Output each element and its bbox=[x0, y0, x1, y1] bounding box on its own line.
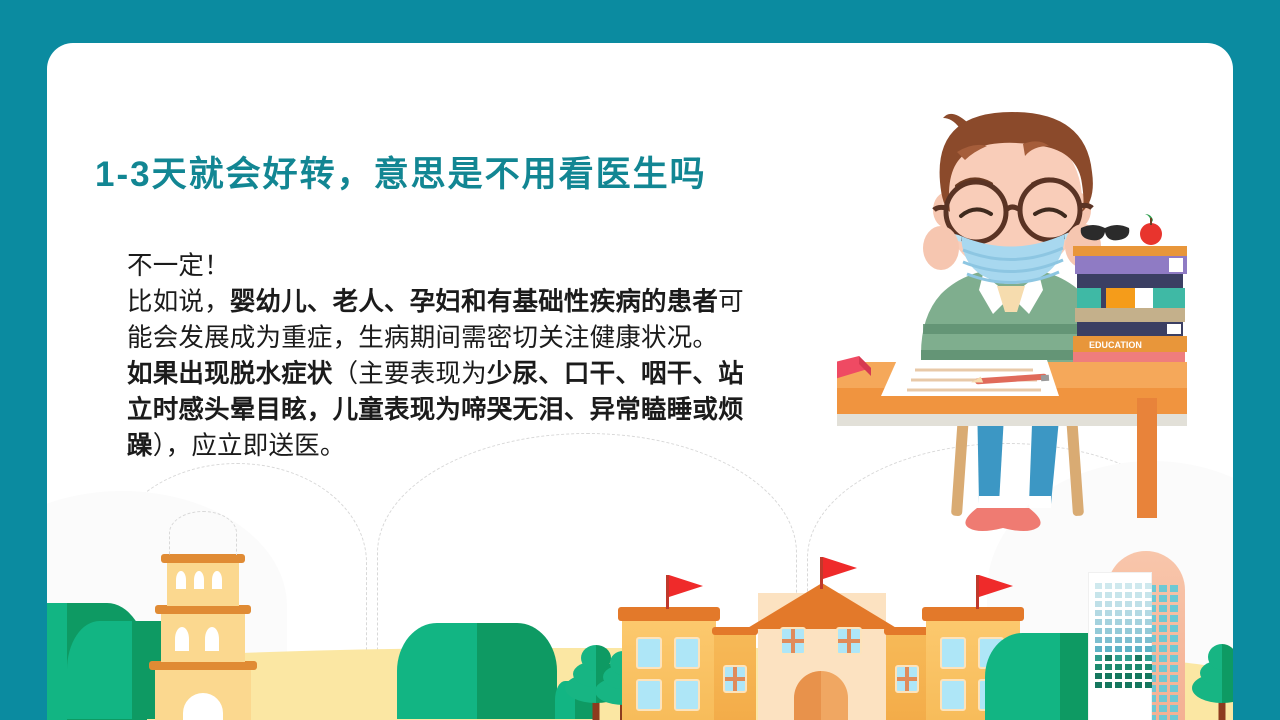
tower-band-top bbox=[161, 554, 245, 563]
school-window bbox=[940, 679, 966, 711]
desk-leg-right bbox=[1137, 398, 1157, 518]
reading-glasses-icon bbox=[1081, 225, 1130, 240]
school-building bbox=[622, 557, 1022, 720]
school-window-cross bbox=[780, 627, 806, 655]
body-line-2: 比如说，婴幼儿、老人、孕妇和有基础性疾病的患者可能会发展成为重症，生病期间需密切… bbox=[127, 284, 752, 356]
tower-window-top-3 bbox=[212, 571, 222, 589]
tower-mid bbox=[161, 612, 245, 662]
boy-hand-left bbox=[923, 226, 959, 270]
tower-band-mid bbox=[155, 605, 251, 614]
school-roof bbox=[746, 583, 898, 629]
school-window-cross bbox=[723, 665, 747, 693]
body-line-3: 如果出现脱水症状（主要表现为少尿、口干、咽干、站立时感头晕目眩，儿童表现为啼哭无… bbox=[127, 356, 752, 464]
tower-window-mid-1 bbox=[175, 627, 189, 651]
school-window-cross bbox=[836, 627, 862, 655]
tower-window-mid-2 bbox=[205, 627, 219, 651]
tower-window-top-2 bbox=[194, 571, 204, 589]
student-svg: EDUCATION bbox=[837, 98, 1187, 558]
school-window bbox=[674, 679, 700, 711]
school-flag-center bbox=[823, 557, 857, 579]
tower-dome-outline bbox=[169, 511, 237, 555]
student-illustration: EDUCATION bbox=[837, 98, 1187, 558]
slide-card: EDUCATION bbox=[47, 43, 1233, 720]
book-stack: EDUCATION bbox=[1073, 246, 1187, 362]
highrise-white bbox=[1089, 573, 1151, 720]
highrise-white-windows bbox=[1095, 583, 1152, 688]
school-window bbox=[674, 637, 700, 669]
school-wing-right-cap bbox=[922, 607, 1024, 621]
school-entrance-door bbox=[794, 671, 848, 720]
tower-window-top-1 bbox=[176, 571, 186, 589]
book-label-education: EDUCATION bbox=[1089, 340, 1142, 350]
body-copy: 不一定！ 比如说，婴幼儿、老人、孕妇和有基础性疾病的患者可能会发展成为重症，生病… bbox=[127, 248, 752, 464]
school-window-cross bbox=[895, 665, 919, 693]
school-window bbox=[940, 637, 966, 669]
school-flag-left bbox=[669, 575, 703, 597]
apple-icon bbox=[1140, 214, 1162, 245]
school-block-right-cap bbox=[884, 627, 930, 635]
page-title: 1-3天就会好转，意思是不用看医生吗 bbox=[95, 146, 707, 197]
bush-center bbox=[397, 623, 557, 719]
school-wing-left-cap bbox=[618, 607, 720, 621]
body-line-1: 不一定！ bbox=[127, 248, 752, 284]
slide-frame: EDUCATION bbox=[0, 0, 1280, 720]
tree-foliage-top bbox=[1208, 644, 1233, 670]
school-window bbox=[636, 679, 662, 711]
school-flag-right bbox=[979, 575, 1013, 597]
bell-tower bbox=[147, 547, 259, 720]
tower-band-lower bbox=[149, 661, 257, 670]
school-window bbox=[636, 637, 662, 669]
tree-far-right bbox=[1192, 643, 1233, 720]
